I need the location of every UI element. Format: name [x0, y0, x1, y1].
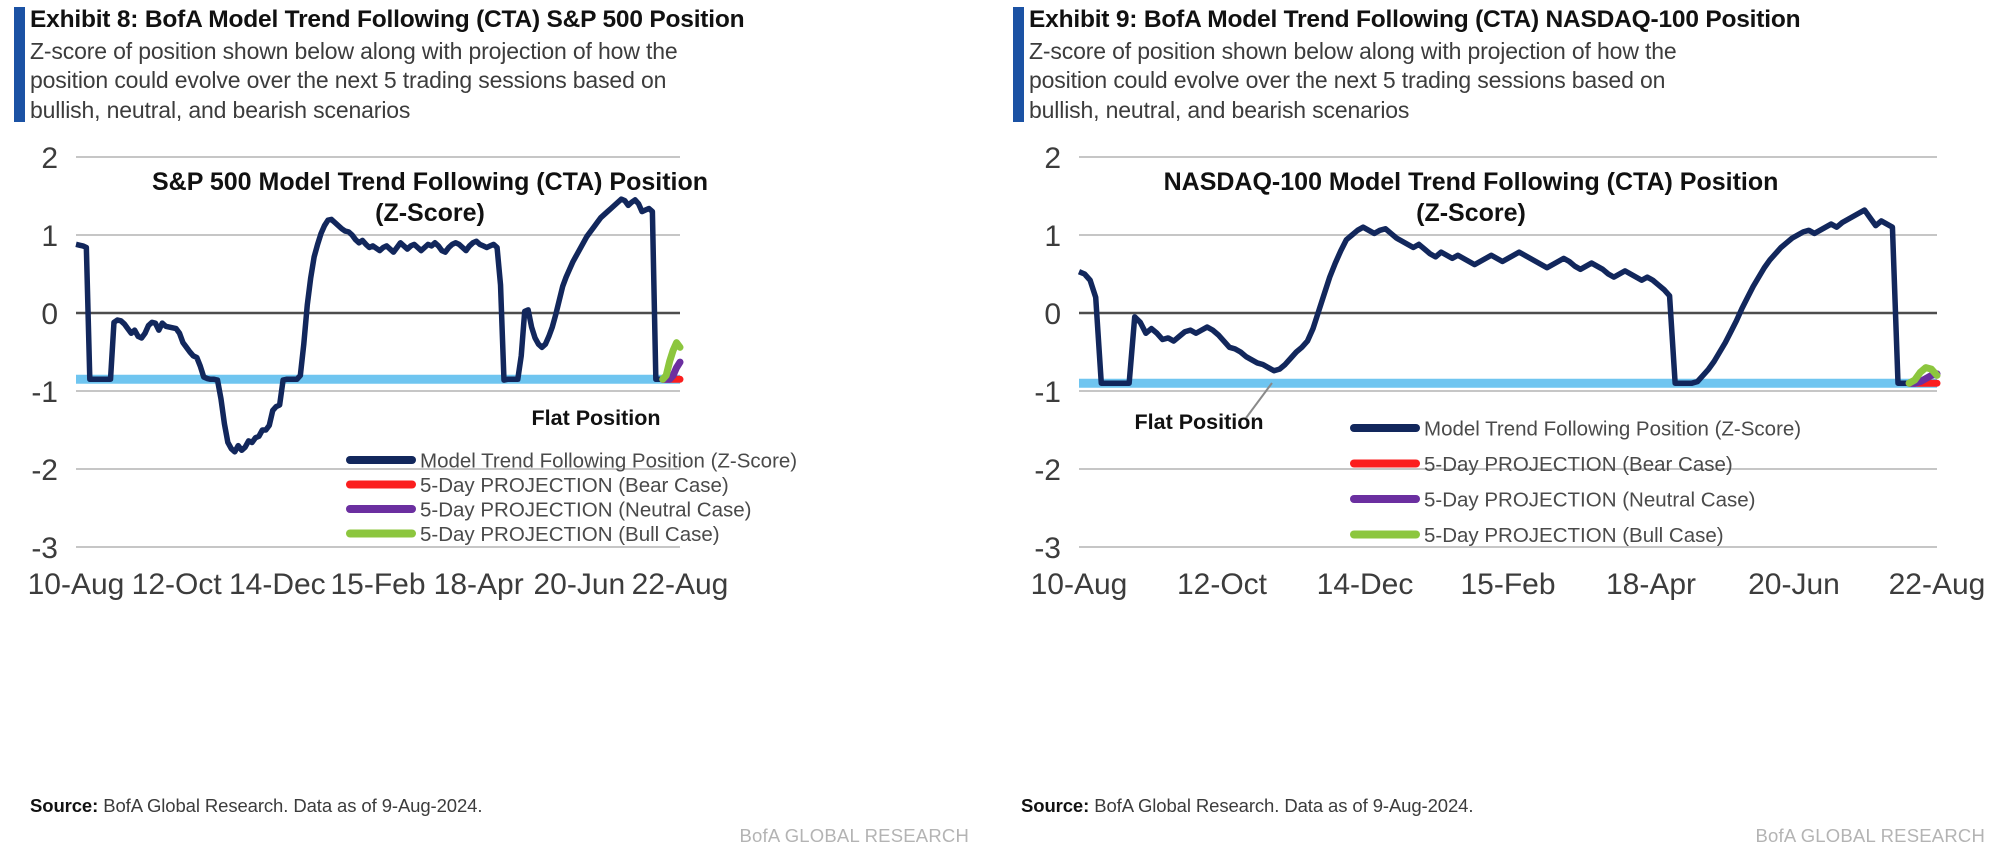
- legend-label: 5-Day PROJECTION (Bear Case): [420, 474, 729, 497]
- legend-label: 5-Day PROJECTION (Neutral Case): [420, 499, 751, 522]
- chart-title-line1: NASDAQ-100 Model Trend Following (CTA) P…: [1164, 168, 1779, 196]
- x-tick-label: 15-Feb: [330, 568, 425, 601]
- x-tick-label: 20-Jun: [533, 568, 625, 601]
- exhibit-title: Exhibit 8: BofA Model Trend Following (C…: [30, 6, 985, 35]
- source-note: Source: BofA Global Research. Data as of…: [30, 795, 482, 817]
- legend-label: Model Trend Following Position (Z-Score): [1424, 418, 1801, 441]
- y-tick-label: -3: [1034, 532, 1061, 565]
- y-tick-label: 2: [41, 142, 58, 175]
- exhibits-page: Exhibit 8: BofA Model Trend Following (C…: [0, 0, 1999, 865]
- y-tick-label: -2: [1034, 454, 1061, 487]
- exhibit-panel-nasdaq100: Exhibit 9: BofA Model Trend Following (C…: [999, 0, 1999, 865]
- exhibit-title: Exhibit 9: BofA Model Trend Following (C…: [1029, 6, 1985, 35]
- x-tick-label: 12-Oct: [1177, 568, 1268, 601]
- chart-canvas-sp500: 210-1-2-310-Aug12-Oct14-Dec15-Feb18-Apr2…: [0, 135, 999, 780]
- exhibit-header: Exhibit 8: BofA Model Trend Following (C…: [0, 0, 999, 135]
- y-tick-label: 1: [1044, 220, 1061, 253]
- watermark: BofA GLOBAL RESEARCH: [1755, 825, 1985, 847]
- y-tick-label: 0: [41, 298, 58, 331]
- chart-sp500: 210-1-2-310-Aug12-Oct14-Dec15-Feb18-Apr2…: [0, 135, 999, 780]
- legend-label: 5-Day PROJECTION (Neutral Case): [1424, 489, 1755, 512]
- y-tick-label: -2: [31, 454, 58, 487]
- y-tick-label: -1: [31, 376, 58, 409]
- source-label: Source:: [1021, 795, 1089, 816]
- watermark: BofA GLOBAL RESEARCH: [739, 825, 969, 847]
- y-tick-label: -3: [31, 532, 58, 565]
- accent-bar: [14, 7, 25, 122]
- legend-label: 5-Day PROJECTION (Bear Case): [1424, 453, 1733, 476]
- legend-label: Model Trend Following Position (Z-Score): [420, 450, 797, 473]
- x-tick-label: 10-Aug: [28, 568, 125, 601]
- x-tick-label: 20-Jun: [1748, 568, 1840, 601]
- x-tick-label: 15-Feb: [1460, 568, 1555, 601]
- chart-canvas-nasdaq100: 210-1-2-310-Aug12-Oct14-Dec15-Feb18-Apr2…: [999, 135, 1999, 780]
- chart-title-line2: (Z-Score): [1416, 199, 1526, 227]
- y-tick-label: 0: [1044, 298, 1061, 331]
- x-tick-label: 10-Aug: [1031, 568, 1128, 601]
- legend-label: 5-Day PROJECTION (Bull Case): [1424, 524, 1724, 547]
- x-tick-label: 18-Apr: [434, 568, 524, 601]
- y-tick-label: 1: [41, 220, 58, 253]
- chart-title-line2: (Z-Score): [375, 199, 485, 227]
- source-note: Source: BofA Global Research. Data as of…: [1021, 795, 1473, 817]
- x-tick-label: 14-Dec: [1317, 568, 1414, 601]
- y-tick-label: 2: [1044, 142, 1061, 175]
- source-text: BofA Global Research. Data as of 9-Aug-2…: [1089, 795, 1473, 816]
- x-tick-label: 18-Apr: [1606, 568, 1696, 601]
- x-tick-label: 14-Dec: [229, 568, 326, 601]
- exhibit-subtitle: Z-score of position shown below along wi…: [1029, 37, 1729, 125]
- x-tick-label: 22-Aug: [1889, 568, 1986, 601]
- source-text: BofA Global Research. Data as of 9-Aug-2…: [98, 795, 482, 816]
- flat-position-annotation: Flat Position: [1135, 410, 1264, 434]
- exhibit-subtitle: Z-score of position shown below along wi…: [30, 37, 720, 125]
- source-label: Source:: [30, 795, 98, 816]
- flat-position-annotation: Flat Position: [532, 406, 661, 430]
- series-line-model-trend-following: [1079, 210, 1909, 383]
- exhibit-header: Exhibit 9: BofA Model Trend Following (C…: [999, 0, 1999, 135]
- accent-bar: [1013, 7, 1024, 122]
- chart-title-line1: S&P 500 Model Trend Following (CTA) Posi…: [152, 168, 708, 196]
- y-tick-label: -1: [1034, 376, 1061, 409]
- legend-label: 5-Day PROJECTION (Bull Case): [420, 523, 720, 546]
- chart-nasdaq100: 210-1-2-310-Aug12-Oct14-Dec15-Feb18-Apr2…: [999, 135, 1998, 780]
- x-tick-label: 12-Oct: [132, 568, 223, 601]
- x-tick-label: 22-Aug: [632, 568, 729, 601]
- exhibit-panel-sp500: Exhibit 8: BofA Model Trend Following (C…: [0, 0, 999, 865]
